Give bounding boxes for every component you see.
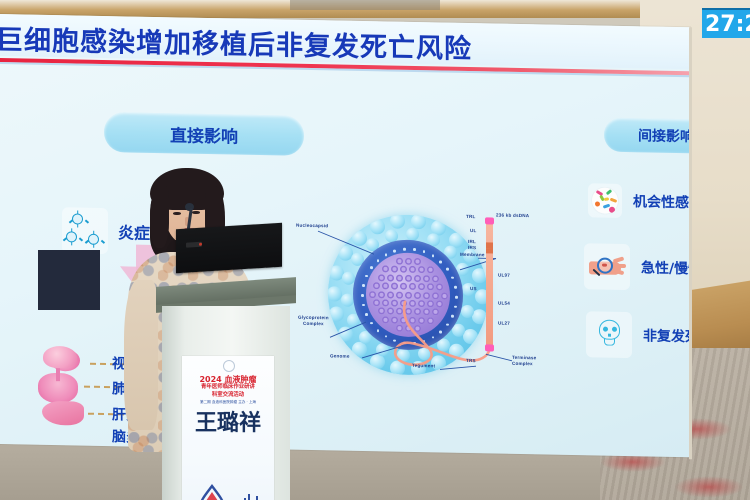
- countdown-timer-value: 27:2: [705, 12, 750, 37]
- sign-event-subtitle: 青年医师临床作业研讲 科室交流活动: [182, 384, 274, 400]
- genome-label-dna-size: 236 kb dsDNA: [496, 213, 529, 219]
- genome-label-us: US: [470, 286, 477, 292]
- section-pill-direct: 直接影响: [104, 112, 304, 156]
- sign-speaker-name: 王璐祥: [182, 412, 274, 436]
- presenter-eye-left: [173, 212, 181, 215]
- genome-trl-cap: [485, 217, 494, 224]
- right-item-gvhd: 急性/慢性GvHD: [584, 243, 690, 292]
- presenter-left-arm: [124, 280, 158, 430]
- conference-room: 巨细胞感染增加移植后非复发死亡风险 直接影响 间接影响: [0, 0, 750, 500]
- sign-subtitle-line1: 青年医师临床作业研讲: [182, 384, 274, 392]
- right-item-opportunistic-infection: 机会性感染: [588, 183, 690, 219]
- liver-icon: [38, 397, 88, 428]
- diagram-label-terminase-complex: Terminase Complex: [512, 355, 536, 367]
- presenter-eye-right: [192, 211, 200, 214]
- presenter-trousers: [38, 250, 100, 310]
- carpet-pattern: [674, 476, 744, 498]
- diagram-label-nucleocapsid: Nucleocapsid: [296, 223, 328, 229]
- genome-label-irl: IRL: [468, 239, 476, 245]
- ceiling-shadow: [290, 0, 440, 10]
- right-item-nonrelapse-mortality: 非复发死亡: [586, 311, 690, 359]
- virus-cluster-icon: [62, 207, 108, 254]
- genome-gene-ul27: UL27: [498, 321, 510, 327]
- diagram-label-tegument: Tegument: [412, 363, 435, 369]
- podium-name-sign: 2024 血液肿瘤 青年医师临床作业研讲 科室交流活动 第二期 血液科医院肿瘤 …: [182, 356, 274, 500]
- genome-label-trl: TRL: [466, 214, 476, 220]
- genome-label-trs: TRS: [466, 358, 476, 364]
- diagram-label-membrane: Membrane: [460, 252, 485, 258]
- genome-label-irs: IRS: [468, 245, 476, 251]
- section-pill-indirect-label: 间接影响: [638, 125, 690, 146]
- skull-icon: [586, 311, 632, 358]
- blood-droplet-wave-logo: [192, 484, 266, 500]
- genome-gene-ul97: UL97: [498, 273, 510, 279]
- brain-icon: [38, 345, 86, 374]
- section-pill-indirect: 间接影响: [604, 118, 690, 154]
- sign-emblem-icon: [223, 360, 235, 372]
- countdown-timer[interactable]: 27:2: [702, 8, 750, 38]
- right-item-nonrelapse-mortality-label: 非复发死亡: [643, 325, 690, 346]
- podium: 2024 血液肿瘤 青年医师临床作业研讲 科室交流活动 第二期 血液科医院肿瘤 …: [162, 282, 290, 500]
- diagram-label-genome: Genome: [330, 353, 350, 359]
- diagram-label-glycoprotein-complex: Glycoprotein Complex: [298, 315, 329, 327]
- section-pill-direct-label: 直接影响: [170, 121, 238, 147]
- right-item-gvhd-label: 急性/慢性GvHD: [641, 257, 690, 279]
- sign-event-meta: 第二期 血液科医院肿瘤 主办 · 上海: [182, 400, 274, 405]
- right-item-opportunistic-infection-label: 机会性感染: [633, 191, 690, 212]
- sign-subtitle-line2: 科室交流活动: [182, 392, 274, 400]
- podium-front-panel: 2024 血液肿瘤 青年医师临床作业研讲 科室交流活动 第二期 血液科医院肿瘤 …: [162, 306, 290, 500]
- genome-gene-ul54: UL54: [498, 301, 510, 307]
- presenter-hair-left: [150, 186, 169, 248]
- thinkpad-laptop: [176, 223, 282, 273]
- projection-screen: 巨细胞感染增加移植后非复发死亡风险 直接影响 间接影响: [0, 14, 690, 457]
- hand-magnifier-icon: [584, 243, 630, 290]
- cytomegalovirus-structure-diagram: Nucleocapsid Membrane Glycoprotein Compl…: [300, 205, 550, 385]
- genome-label-ul: UL: [470, 228, 477, 234]
- genome-trs-cap: [485, 344, 494, 351]
- linear-genome-map: [482, 210, 496, 360]
- glycoprotein-text: Glycoprotein Complex: [298, 315, 329, 326]
- genome-irs-seg: [486, 248, 493, 253]
- bacteria-icon: [588, 183, 622, 218]
- genome-bar: [486, 220, 493, 350]
